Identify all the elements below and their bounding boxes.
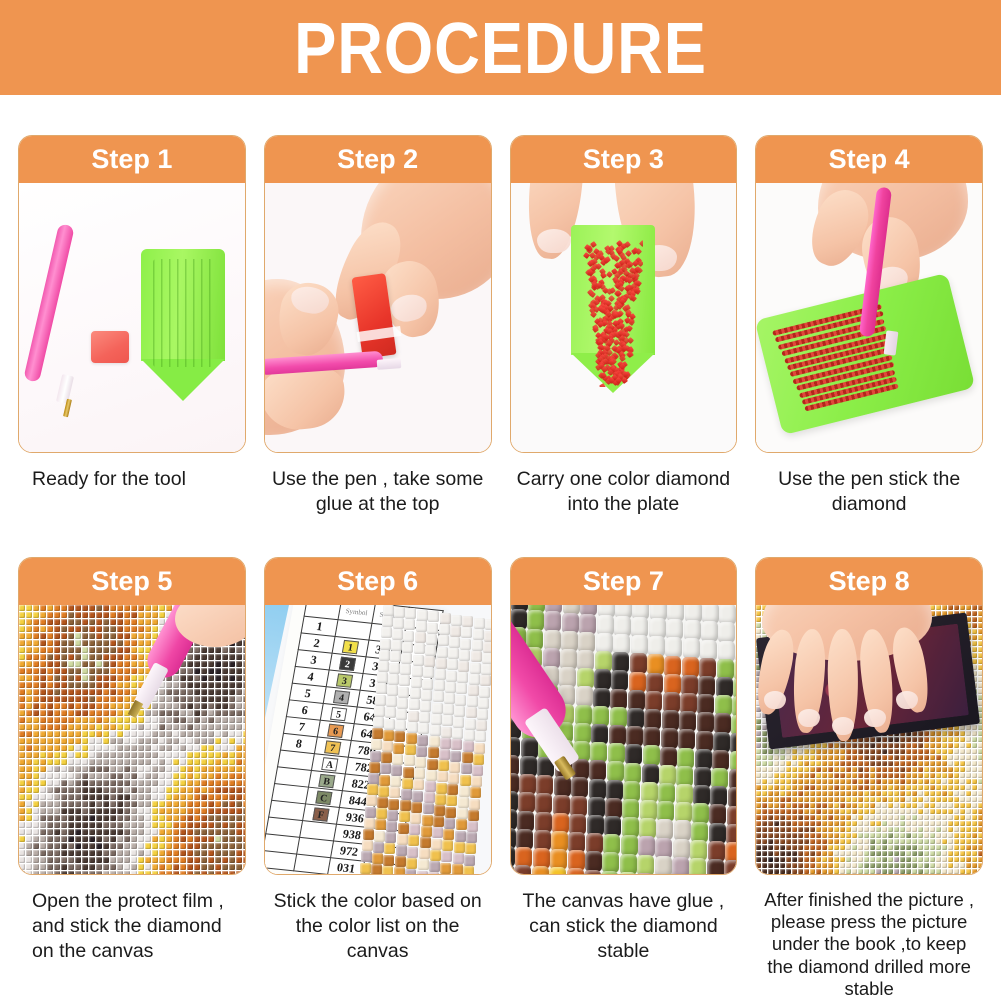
diamond-bead [418, 859, 429, 870]
diamond-bead [243, 703, 245, 709]
diamond-bead [201, 787, 207, 793]
diamond-bead [948, 785, 953, 790]
diamond-bead [361, 851, 372, 862]
diamond-bead [810, 767, 815, 772]
diamond-bead [440, 863, 451, 874]
diamond-bead [786, 761, 791, 766]
symbol-swatch: 2 [339, 656, 356, 670]
diamond-bead [948, 815, 953, 820]
diamond-bead [68, 710, 74, 716]
diamond-bead [68, 766, 74, 772]
diamond-bead [918, 767, 923, 772]
diamond-bead [894, 749, 899, 754]
step-cell-1: Step 1 Ready for the tool [18, 135, 246, 557]
diamond-bead [894, 785, 899, 790]
diamond-bead [906, 797, 911, 802]
cell-row-number [265, 851, 297, 871]
diamond-bead [152, 738, 158, 744]
diamond-bead [166, 843, 172, 849]
diamond-bead [47, 640, 53, 646]
diamond-bead [894, 809, 899, 814]
diamond-bead [82, 675, 88, 681]
diamond-bead [780, 803, 785, 808]
diamond-bead [912, 749, 917, 754]
diamond-bead [82, 696, 88, 702]
step-cell-3: Step 3 Carry one color diamond into [510, 135, 738, 557]
diamond-bead [222, 647, 228, 653]
diamond-bead [61, 724, 67, 730]
diamond-bead [822, 821, 827, 826]
diamond-bead [774, 797, 779, 802]
diamond-bead [40, 843, 46, 849]
diamond-bead [388, 674, 399, 685]
diamond-bead [159, 717, 165, 723]
diamond-bead [173, 682, 179, 688]
diamond-bead [166, 829, 172, 835]
diamond-bead [948, 737, 953, 742]
diamond-bead [89, 808, 95, 814]
diamond-bead [966, 785, 971, 790]
diamond-bead [124, 647, 130, 653]
diamond-bead [159, 612, 165, 618]
step-header-3: Step 3 [511, 136, 737, 183]
diamond-bead [786, 815, 791, 820]
diamond-bead [75, 682, 81, 688]
diamond-bead [756, 761, 761, 766]
diamond-bead [365, 807, 376, 818]
diamond-bead [61, 801, 67, 807]
diamond-bead [61, 836, 67, 842]
diamond-bead [882, 743, 887, 748]
diamond-bead [68, 787, 74, 793]
diamond-bead [840, 791, 845, 796]
diamond-bead [786, 755, 791, 760]
diamond-bead [978, 797, 982, 802]
diamond-bead [159, 864, 165, 870]
diamond-bead [840, 815, 845, 820]
diamond-bead [816, 845, 821, 850]
diamond-bead [208, 731, 214, 737]
diamond-bead [33, 801, 39, 807]
diamond-bead [774, 833, 779, 838]
diamond-bead [972, 737, 977, 742]
diamond-bead [448, 648, 459, 659]
diamond-bead [208, 787, 214, 793]
diamond-bead [816, 857, 821, 862]
diamond-bead [792, 827, 797, 832]
diamond-bead [930, 761, 935, 766]
diamond-bead [864, 785, 869, 790]
diamond-bead [780, 755, 785, 760]
diamond-bead [810, 779, 815, 784]
diamond-bead [194, 857, 200, 863]
diamond-bead [166, 717, 172, 723]
diamond-bead [229, 738, 235, 744]
diamond-bead [463, 741, 474, 752]
diamond-bead [834, 815, 839, 820]
diamond-bead [26, 605, 32, 611]
diamond-bead [138, 605, 144, 611]
diamond-bead [978, 857, 982, 862]
diamond-bead [89, 801, 95, 807]
diamond-bead [166, 745, 172, 751]
diamond-bead [960, 809, 965, 814]
diamond-bead [786, 821, 791, 826]
diamond-bead [208, 661, 214, 667]
diamond-bead [166, 801, 172, 807]
diamond-bead [124, 696, 130, 702]
diamond-bead [138, 787, 144, 793]
diamond-bead [96, 864, 102, 870]
diamond-bead [75, 626, 81, 632]
diamond-bead [954, 851, 959, 856]
diamond-bead [68, 661, 74, 667]
diamond-tray-icon [571, 225, 655, 395]
diamond-bead [236, 696, 242, 702]
diamond-bead [131, 780, 137, 786]
diamond-bead [942, 845, 947, 850]
diamond-bead [19, 668, 25, 674]
diamond-bead [583, 252, 590, 259]
diamond-bead [846, 833, 851, 838]
diamond-bead [124, 808, 130, 814]
step-header-label: Step 6 [337, 566, 418, 597]
diamond-bead [954, 767, 959, 772]
diamond-bead [455, 831, 466, 842]
diamond-bead [822, 803, 827, 808]
diamond-bead [858, 749, 863, 754]
diamond-bead [236, 724, 242, 730]
diamond-bead [972, 779, 977, 784]
diamond-bead [26, 626, 32, 632]
diamond-bead [61, 857, 67, 863]
diamond-bead [427, 623, 438, 634]
diamond-bead [768, 749, 773, 754]
diamond-bead [187, 717, 193, 723]
diamond-bead [222, 815, 228, 821]
diamond-bead [124, 871, 130, 874]
diamond-bead [75, 850, 81, 856]
diamond-bead [396, 845, 407, 856]
diamond-bead [159, 752, 165, 758]
diamond-bead [138, 668, 144, 674]
diamond-bead [762, 761, 767, 766]
diamond-bead [864, 773, 869, 778]
diamond-bead [924, 743, 929, 748]
diamond-bead [804, 767, 809, 772]
diamond-bead [840, 743, 845, 748]
diamond-bead [786, 785, 791, 790]
diamond-bead [846, 869, 851, 874]
diamond-bead [804, 791, 809, 796]
diamond-bead [26, 689, 32, 695]
diamond-bead [138, 647, 144, 653]
diamond-bead [816, 773, 821, 778]
diamond-bead [68, 773, 74, 779]
diamond-bead [180, 696, 186, 702]
diamond-bead [774, 761, 779, 766]
diamond-bead [26, 682, 32, 688]
diamond-bead [756, 611, 761, 616]
diamond-bead [402, 778, 413, 789]
diamond-bead [882, 779, 887, 784]
diamond-bead [912, 827, 917, 832]
diamond-bead [395, 856, 406, 867]
diamond-bead [435, 794, 446, 805]
diamond-bead [786, 827, 791, 832]
diamond-bead [40, 640, 46, 646]
diamond-bead [54, 605, 60, 611]
diamond-bead [912, 755, 917, 760]
diamond-bead [131, 822, 137, 828]
diamond-bead [852, 845, 857, 850]
diamond-bead [180, 787, 186, 793]
diamond-bead [215, 752, 221, 758]
diamond-bead [33, 759, 39, 765]
diamond-bead [222, 675, 228, 681]
diamond-bead [215, 661, 221, 667]
diamond-bead [201, 822, 207, 828]
diamond-bead [433, 691, 444, 702]
step-caption-4: Use the pen stick the diamond [755, 453, 983, 557]
diamond-bead [948, 839, 953, 844]
diamond-bead [19, 626, 25, 632]
step-cell-8: Step 8 [755, 557, 983, 1000]
diamond-bead [40, 738, 46, 744]
diamond-bead [864, 779, 869, 784]
diamond-bead [26, 633, 32, 639]
diamond-bead [173, 857, 179, 863]
diamond-bead [924, 803, 929, 808]
diamond-bead [786, 779, 791, 784]
diamond-bead [82, 731, 88, 737]
diamond-bead [362, 840, 373, 851]
diamond-bead [54, 633, 60, 639]
diamond-bead [756, 839, 761, 844]
diamond-bead [455, 695, 466, 706]
diamond-bead [26, 710, 32, 716]
diamond-bead [386, 696, 397, 707]
diamond-bead [930, 857, 935, 862]
diamond-bead [424, 656, 435, 667]
diamond-bead [972, 755, 977, 760]
diamond-bead [900, 749, 905, 754]
diamond-bead [145, 612, 151, 618]
diamond-bead [966, 869, 971, 874]
diamond-bead [888, 773, 893, 778]
diamond-bead [243, 850, 245, 856]
diamond-bead [972, 749, 977, 754]
diamond-bead [82, 668, 88, 674]
diamond-bead [75, 654, 81, 660]
diamond-bead [954, 839, 959, 844]
diamond-bead [852, 779, 857, 784]
diamond-bead [888, 845, 893, 850]
diamond-bead [159, 815, 165, 821]
diamond-bead [75, 857, 81, 863]
diamond-bead [40, 759, 46, 765]
diamond-bead [243, 794, 245, 800]
diamond-bead [407, 722, 418, 733]
diamond-bead [840, 857, 845, 862]
diamond-bead [389, 663, 400, 674]
diamond-bead [124, 654, 130, 660]
diamond-bead [978, 737, 982, 742]
diamond-bead [924, 785, 929, 790]
diamond-bead [75, 836, 81, 842]
diamond-bead [401, 789, 412, 800]
diamond-bead [75, 745, 81, 751]
diamond-bead [918, 797, 923, 802]
diamond-bead [173, 808, 179, 814]
diamond-bead [103, 829, 109, 835]
diamond-bead [834, 773, 839, 778]
diamond-bead [208, 773, 214, 779]
diamond-bead [159, 801, 165, 807]
diamond-bead [840, 869, 845, 874]
diamond-bead [208, 780, 214, 786]
diamond-bead [918, 761, 923, 766]
diamond-bead [419, 848, 430, 859]
diamond-bead [229, 759, 235, 765]
diamond-bead [822, 869, 827, 874]
diamond-bead [437, 771, 448, 782]
diamond-bead [870, 869, 875, 874]
diamond-bead [942, 737, 947, 742]
diamond-bead [82, 612, 88, 618]
diamond-bead [47, 731, 53, 737]
diamond-bead [390, 651, 401, 662]
diamond-bead [762, 797, 767, 802]
diamond-bead [828, 821, 833, 826]
diamond-bead [96, 605, 102, 611]
diamond-bead [460, 639, 471, 650]
diamond-bead [222, 654, 228, 660]
diamond-bead [462, 752, 473, 763]
diamond-bead [876, 815, 881, 820]
diamond-bead [810, 761, 815, 766]
diamond-bead [768, 851, 773, 856]
diamond-bead [138, 836, 144, 842]
diamond-bead [229, 668, 235, 674]
diamond-bead [229, 815, 235, 821]
diamond-bead [386, 821, 397, 832]
diamond-bead [26, 857, 32, 863]
diamond-bead [942, 785, 947, 790]
diamond-bead [870, 785, 875, 790]
diamond-bead [173, 780, 179, 786]
diamond-bead [768, 821, 773, 826]
diamond-bead [888, 743, 893, 748]
diamond-bead [912, 851, 917, 856]
diamond-bead [888, 863, 893, 868]
diamond-bead [222, 808, 228, 814]
diamond-bead [382, 741, 393, 752]
diamond-bead [780, 821, 785, 826]
step-caption-7: The canvas have glue , can stick the dia… [510, 875, 738, 979]
diamond-bead [840, 755, 845, 760]
diamond-bead [978, 803, 982, 808]
diamond-bead [954, 815, 959, 820]
diamond-bead [900, 773, 905, 778]
diamond-bead [828, 761, 833, 766]
diamond-bead [194, 766, 200, 772]
diamond-bead [918, 755, 923, 760]
diamond-bead [138, 829, 144, 835]
diamond-bead [103, 801, 109, 807]
diamond-bead [222, 724, 228, 730]
diamond-bead [948, 791, 953, 796]
diamond-bead [804, 839, 809, 844]
diamond-bead [117, 850, 123, 856]
diamond-bead [152, 773, 158, 779]
diamond-bead [138, 843, 144, 849]
diamond-bead [762, 851, 767, 856]
diamond-bead [180, 766, 186, 772]
diamond-bead [816, 815, 821, 820]
diamond-bead [33, 752, 39, 758]
diamond-bead [888, 785, 893, 790]
diamond-bead [924, 731, 929, 736]
diamond-bead [208, 696, 214, 702]
diamond-bead [834, 749, 839, 754]
diamond-bead [96, 745, 102, 751]
diamond-bead [762, 821, 767, 826]
diamond-bead [462, 616, 473, 627]
diamond-bead [201, 689, 207, 695]
diamond-bead [26, 850, 32, 856]
diamond-bead [445, 682, 456, 693]
diamond-bead [792, 779, 797, 784]
diamond-bead [173, 703, 179, 709]
diamond-bead [166, 815, 172, 821]
diamond-bead [19, 717, 25, 723]
diamond-bead [888, 827, 893, 832]
diamond-bead [828, 869, 833, 874]
diamond-bead [215, 710, 221, 716]
diamond-bead [966, 821, 971, 826]
diamond-bead [138, 619, 144, 625]
diamond-bead [19, 731, 25, 737]
diamond-bead [152, 857, 158, 863]
diamond-bead [159, 850, 165, 856]
diamond-bead [117, 703, 123, 709]
diamond-bead [124, 850, 130, 856]
diamond-bead [453, 717, 464, 728]
diamond-bead [840, 761, 845, 766]
diamond-bead [180, 773, 186, 779]
diamond-bead [482, 653, 490, 664]
diamond-bead [876, 749, 881, 754]
diamond-bead [194, 815, 200, 821]
diamond-bead [159, 696, 165, 702]
diamond-bead [236, 801, 242, 807]
diamond-bead [61, 787, 67, 793]
diamond-bead [103, 766, 109, 772]
diamond-bead [103, 731, 109, 737]
diamond-bead [852, 761, 857, 766]
diamond-bead [894, 863, 899, 868]
diamond-bead [804, 869, 809, 874]
diamond-bead [428, 747, 439, 758]
diamond-bead [68, 724, 74, 730]
diamond-bead [360, 863, 371, 874]
diamond-bead [822, 755, 827, 760]
diamond-bead [804, 773, 809, 778]
diamond-bead [47, 696, 53, 702]
diamond-bead [47, 829, 53, 835]
diamond-bead [33, 738, 39, 744]
